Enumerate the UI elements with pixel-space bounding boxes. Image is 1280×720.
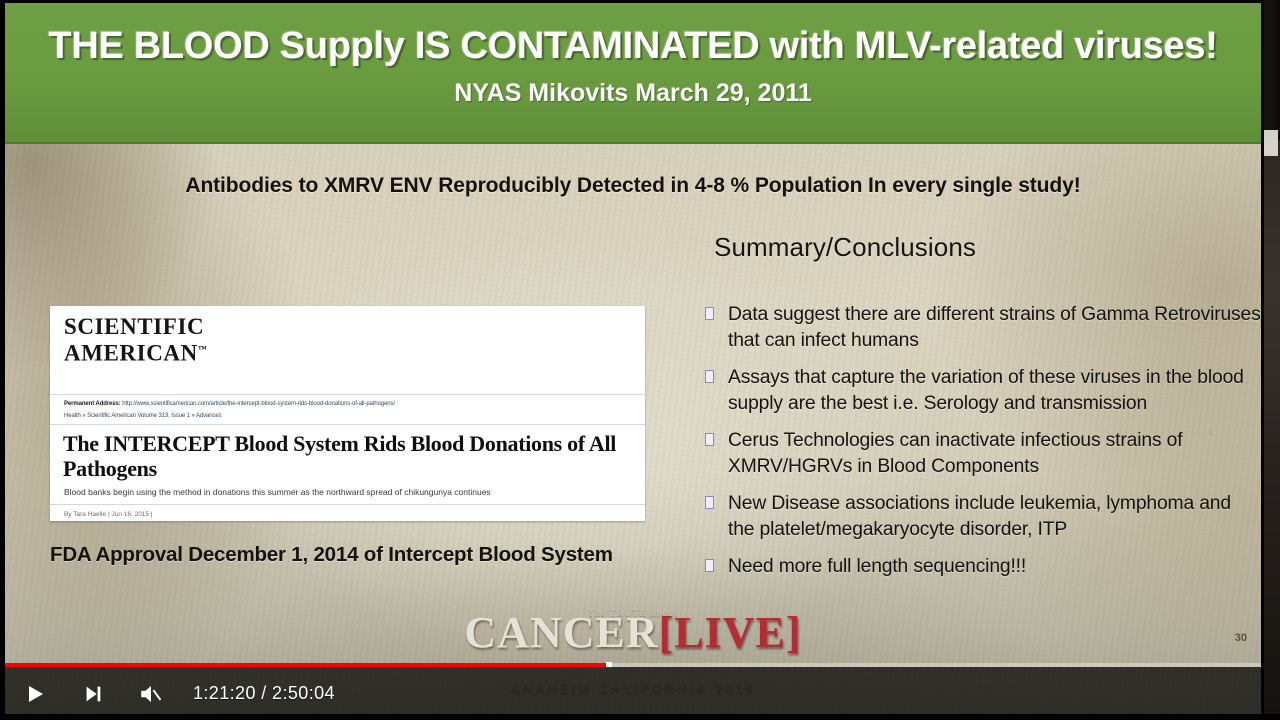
permanent-address-url[interactable]: http://www.scientificamerican.com/articl… [122, 401, 395, 407]
list-item: Data suggest there are different strains… [705, 302, 1261, 354]
square-bullet-icon [705, 433, 714, 446]
summary-heading: Summary/Conclusions [714, 232, 976, 263]
video-player-stage: THE BLOOD Supply IS CONTAMINATED with ML… [0, 0, 1280, 720]
scientific-american-masthead: SCIENTIFIC AMERICAN™ [64, 316, 207, 365]
permanent-address-line: Permanent Address: http://www.scientific… [64, 399, 634, 409]
summary-bullet-list: Data suggest there are different strains… [705, 302, 1261, 591]
fda-approval-note: FDA Approval December 1, 2014 of Interce… [50, 543, 660, 567]
masthead-trademark: ™ [198, 344, 207, 354]
clipping-divider-bottom [50, 504, 645, 505]
video-viewport[interactable]: THE BLOOD Supply IS CONTAMINATED with ML… [0, 0, 1264, 720]
masthead-line-2: AMERICAN [64, 341, 198, 366]
square-bullet-icon [705, 370, 714, 383]
square-bullet-icon [705, 496, 714, 509]
play-button[interactable] [13, 672, 57, 716]
play-icon [23, 682, 47, 706]
skip-next-icon [82, 683, 104, 705]
slide-title-band: THE BLOOD Supply IS CONTAMINATED with ML… [5, 3, 1261, 144]
player-controls-bar: 1:21:20 / 2:50:04 [5, 663, 1264, 720]
volume-muted-icon [138, 681, 164, 707]
clipping-divider-mid [50, 424, 645, 425]
magazine-clipping: SCIENTIFIC AMERICAN™ Permanent Address: … [50, 306, 645, 521]
player-bottom-edge [0, 714, 1280, 720]
time-display: 1:21:20 / 2:50:04 [193, 683, 335, 704]
slide-title: THE BLOOD Supply IS CONTAMINATED with ML… [5, 27, 1261, 67]
next-video-button[interactable] [71, 672, 115, 716]
clipping-breadcrumb[interactable]: Health » Scientific American Volume 313,… [64, 411, 634, 421]
list-item: Need more full length sequencing!!! [705, 554, 1261, 580]
presentation-slide: THE BLOOD Supply IS CONTAMINATED with ML… [5, 3, 1261, 720]
bullet-text: Assays that capture the variation of the… [728, 365, 1261, 417]
bullet-text: Data suggest there are different strains… [728, 302, 1261, 354]
controls-row: 1:21:20 / 2:50:04 [5, 667, 1264, 720]
square-bullet-icon [705, 307, 714, 320]
masthead-line-1: SCIENTIFIC [64, 314, 204, 339]
clipping-article-title: The INTERCEPT Blood System Rids Blood Do… [63, 431, 633, 481]
list-item: Assays that capture the variation of the… [705, 365, 1261, 417]
permanent-address-label: Permanent Address: [64, 401, 121, 407]
list-item: Cerus Technologies can inactivate infect… [705, 428, 1261, 480]
slide-page-number: 30 [1235, 632, 1247, 644]
clipping-article-deck: Blood banks begin using the method in do… [64, 486, 624, 498]
clipping-divider-top [50, 394, 645, 395]
slide-headline: Antibodies to XMRV ENV Reproducibly Dete… [5, 174, 1261, 198]
square-bullet-icon [705, 559, 714, 572]
clipping-article-byline: By Tara Haelle | Jun 16, 2015 | [64, 511, 153, 518]
slide-subtitle: NYAS Mikovits March 29, 2011 [5, 79, 1261, 108]
bullet-text: Cerus Technologies can inactivate infect… [728, 428, 1261, 480]
bullet-text: Need more full length sequencing!!! [728, 554, 1026, 580]
list-item: New Disease associations include leukemi… [705, 491, 1261, 543]
bullet-text: New Disease associations include leukemi… [728, 491, 1261, 543]
mute-button[interactable] [129, 672, 173, 716]
